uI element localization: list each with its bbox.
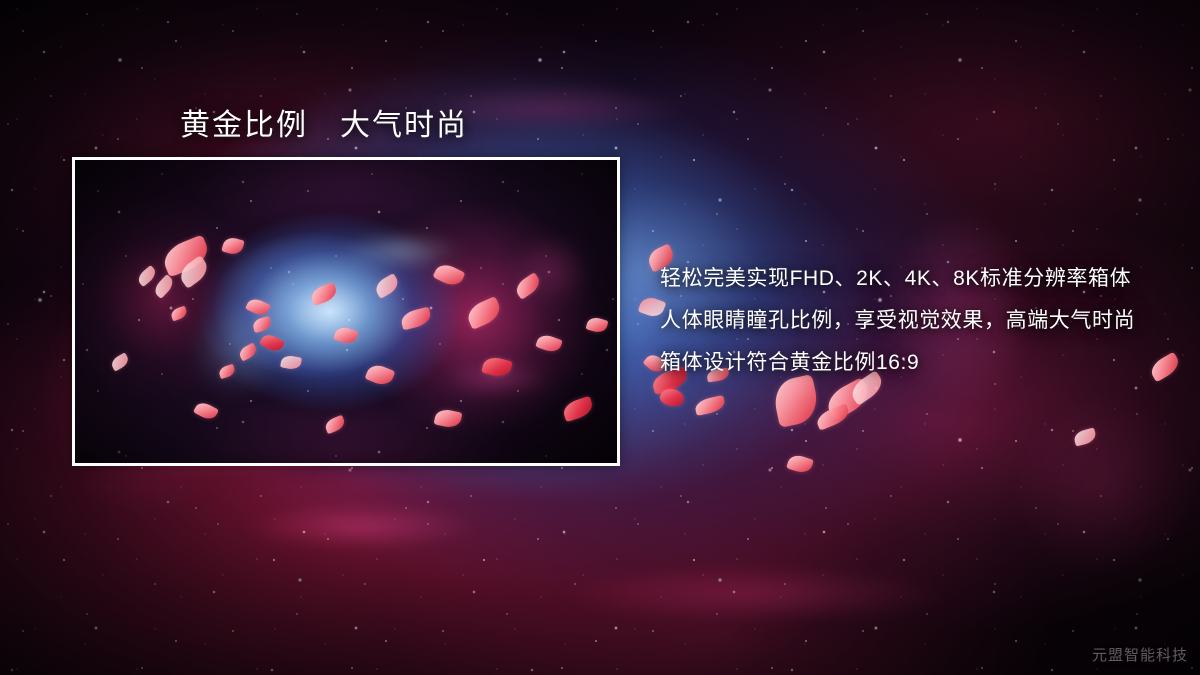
framed-photo [72, 157, 620, 466]
body-copy: 轻松完美实现FHD、2K、4K、8K标准分辨率箱体 人体眼睛瞳孔比例，享受视觉效… [660, 258, 1180, 384]
copy-line-3: 箱体设计符合黄金比例16:9 [660, 342, 1180, 384]
page-title: 黄金比例 大气时尚 [180, 100, 468, 144]
presentation-slide: 黄金比例 大气时尚 轻松完美实现FHD、2K、4K、8K标准分辨率箱体 人体眼睛… [0, 0, 1200, 675]
copy-line-2: 人体眼睛瞳孔比例，享受视觉效果，高端大气时尚 [660, 300, 1180, 342]
watermark: 元盟智能科技 [1092, 644, 1188, 665]
copy-line-1: 轻松完美实现FHD、2K、4K、8K标准分辨率箱体 [660, 258, 1180, 300]
photo-vignette [75, 160, 617, 463]
